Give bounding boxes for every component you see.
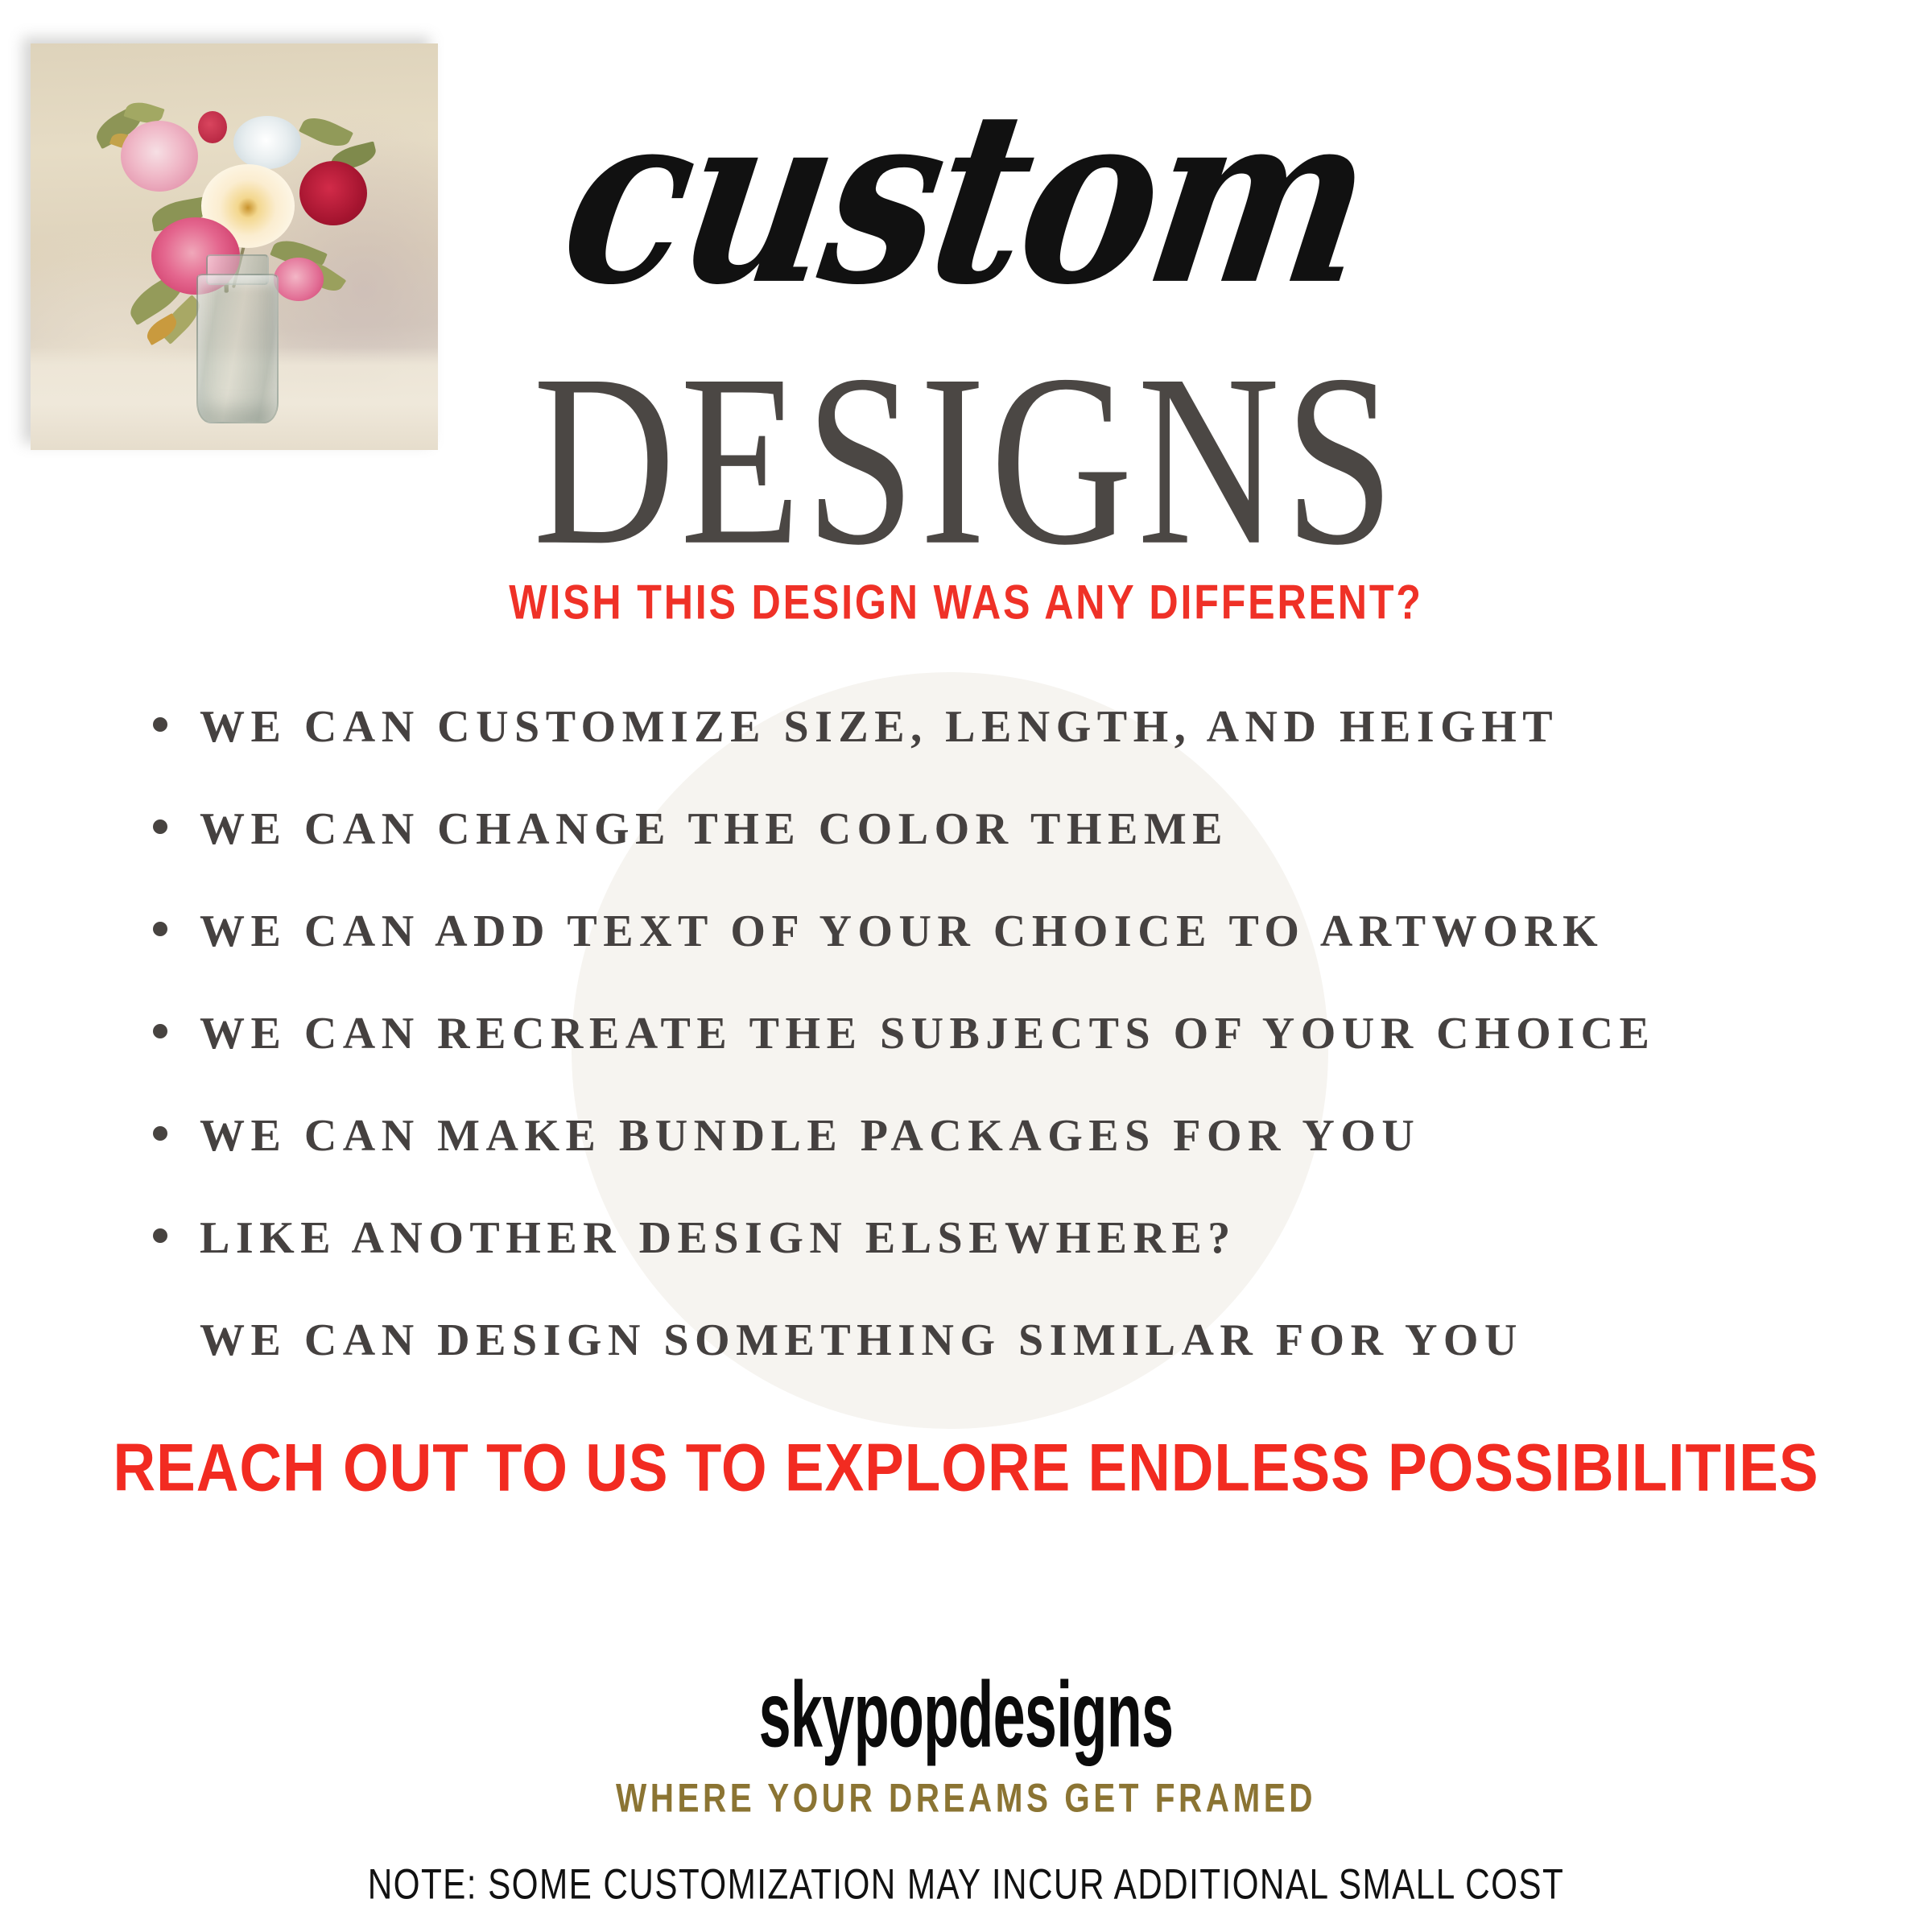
feature-list-item: WE CAN CUSTOMIZE SIZE, LENGTH, AND HEIGH… xyxy=(153,704,1803,807)
feature-list-item-label: WE CAN ADD TEXT OF YOUR CHOICE TO ARTWOR… xyxy=(200,909,1604,954)
flower-pink-small xyxy=(274,258,324,301)
subtitle-question: WISH THIS DESIGN WAS ANY DIFFERENT? xyxy=(68,578,1864,626)
feature-list: WE CAN CUSTOMIZE SIZE, LENGTH, AND HEIGH… xyxy=(153,704,1803,1414)
feature-list-item-label: WE CAN CUSTOMIZE SIZE, LENGTH, AND HEIGH… xyxy=(200,704,1558,749)
feature-list-item-label: WE CAN CHANGE THE COLOR THEME xyxy=(200,807,1228,852)
feature-list-item-label: LIKE ANOTHER DESIGN ELSEWHERE? xyxy=(200,1216,1236,1261)
cta-reach-out: REACH OUT TO US TO EXPLORE ENDLESS POSSI… xyxy=(39,1435,1893,1502)
brand-tagline: WHERE YOUR DREAMS GET FRAMED xyxy=(97,1777,1835,1818)
product-thumbnail[interactable] xyxy=(31,43,438,450)
feature-list-item-label: WE CAN RECREATE THE SUBJECTS OF YOUR CHO… xyxy=(200,1011,1655,1056)
flower-pink-light xyxy=(121,121,198,192)
brand-wordmark: skypopdesigns xyxy=(270,1668,1662,1761)
bullet-dot-icon xyxy=(153,1331,167,1345)
flower-white xyxy=(233,116,301,169)
footer-note: NOTE: SOME CUSTOMIZATION MAY INCUR ADDIT… xyxy=(77,1863,1855,1905)
flower-red-bud xyxy=(198,111,227,143)
feature-list-item-label: WE CAN MAKE BUNDLE PACKAGES FOR YOU xyxy=(200,1113,1420,1158)
flower-crimson xyxy=(299,161,367,225)
bullet-dot-icon xyxy=(153,922,167,936)
feature-list-item: LIKE ANOTHER DESIGN ELSEWHERE? xyxy=(153,1216,1803,1318)
feature-list-item: WE CAN ADD TEXT OF YOUR CHOICE TO ARTWOR… xyxy=(153,909,1803,1011)
bullet-dot-icon xyxy=(153,819,167,834)
feature-list-item: WE CAN CHANGE THE COLOR THEME xyxy=(153,807,1803,909)
poster-canvas: custom DESIGNS WISH THIS DESIGN WAS ANY … xyxy=(0,0,1932,1932)
bullet-dot-icon xyxy=(153,1228,167,1243)
bullet-dot-icon xyxy=(153,1024,167,1038)
feature-list-item: WE CAN DESIGN SOMETHING SIMILAR FOR YOU xyxy=(153,1318,1803,1414)
feature-list-item: WE CAN RECREATE THE SUBJECTS OF YOUR CHO… xyxy=(153,1011,1803,1113)
bullet-dot-icon xyxy=(153,1126,167,1141)
bullet-dot-icon xyxy=(153,717,167,732)
glass-jar xyxy=(196,274,279,423)
feature-list-item-label: WE CAN DESIGN SOMETHING SIMILAR FOR YOU xyxy=(200,1318,1523,1363)
feature-list-item: WE CAN MAKE BUNDLE PACKAGES FOR YOU xyxy=(153,1113,1803,1216)
